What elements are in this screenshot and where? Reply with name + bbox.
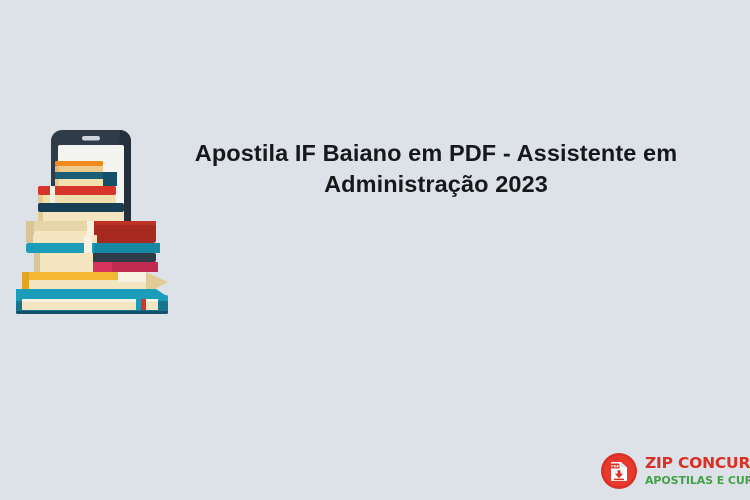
brand-name: ZIP CONCURSOS (645, 456, 750, 472)
brand-logo[interactable]: PDF ZIP CONCURSOS APOSTILAS E CURSOS (600, 452, 750, 490)
brand-tagline: APOSTILAS E CURSOS (645, 475, 750, 486)
page-title: Apostila IF Baiano em PDF - Assistente e… (190, 138, 682, 200)
page-canvas: Apostila IF Baiano em PDF - Assistente e… (0, 0, 750, 500)
stack-of-books-with-tablet-illustration (8, 125, 180, 315)
book-magenta (34, 262, 158, 272)
book-bottom-teal (16, 289, 168, 314)
brand-wordmark: ZIP CONCURSOS APOSTILAS E CURSOS (645, 456, 750, 486)
book-navy (38, 203, 124, 221)
svg-text:PDF: PDF (611, 464, 620, 468)
book-slate (34, 253, 156, 262)
pdf-download-icon: PDF (600, 452, 638, 490)
book-red (38, 186, 116, 203)
hero-title-block: Apostila IF Baiano em PDF - Assistente e… (190, 138, 682, 200)
book-top-orange (55, 161, 103, 172)
book-top-navy (55, 172, 117, 186)
